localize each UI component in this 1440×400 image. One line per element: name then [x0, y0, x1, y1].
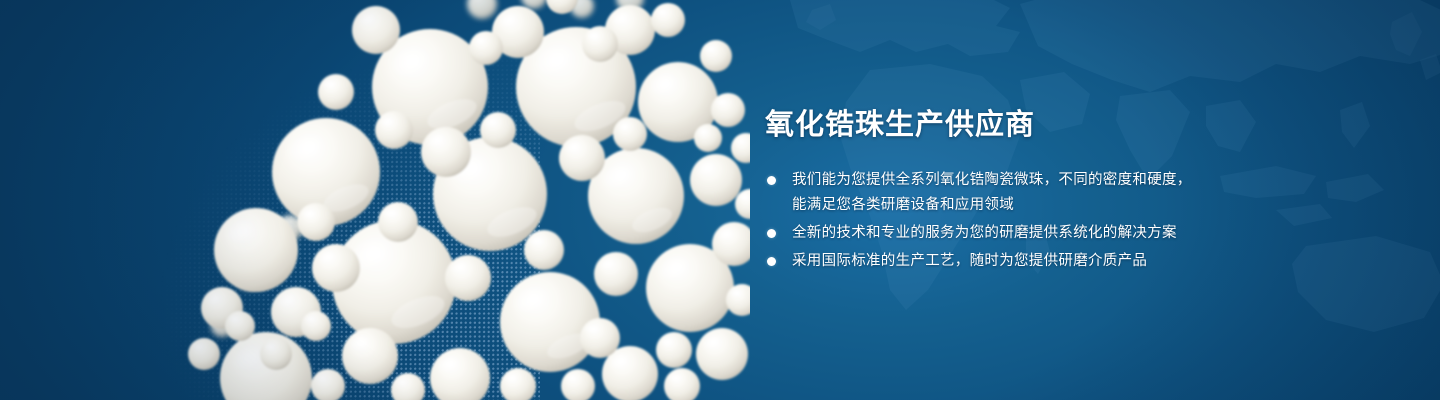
- banner-bullet-list: 我们能为您提供全系列氧化锆陶瓷微珠，不同的密度和硬度， 能满足您各类研磨设备和应…: [765, 168, 1285, 274]
- bullet-3-line-1: 采用国际标准的生产工艺，随时为您提供研磨介质产品: [792, 249, 1285, 274]
- dot-bullet-icon: [767, 257, 776, 266]
- banner-text-block: 氧化锆珠生产供应商 我们能为您提供全系列氧化锆陶瓷微珠，不同的密度和硬度， 能满…: [765, 106, 1285, 277]
- bullet-1-line-1: 我们能为您提供全系列氧化锆陶瓷微珠，不同的密度和硬度，: [792, 168, 1285, 193]
- bullet-item-2: 全新的技术和专业的服务为您的研磨提供系统化的解决方案: [765, 221, 1285, 246]
- bullet-item-3: 采用国际标准的生产工艺，随时为您提供研磨介质产品: [765, 249, 1285, 274]
- banner-headline: 氧化锆珠生产供应商: [765, 106, 1285, 144]
- dot-bullet-icon: [767, 229, 776, 238]
- bullet-2-line-1: 全新的技术和专业的服务为您的研磨提供系统化的解决方案: [792, 221, 1285, 246]
- bullet-item-1: 我们能为您提供全系列氧化锆陶瓷微珠，不同的密度和硬度， 能满足您各类研磨设备和应…: [765, 168, 1285, 218]
- dot-bullet-icon: [767, 176, 776, 185]
- hero-banner: 氧化锆珠生产供应商 我们能为您提供全系列氧化锆陶瓷微珠，不同的密度和硬度， 能满…: [0, 0, 1440, 400]
- bullet-1-line-2: 能满足您各类研磨设备和应用领域: [792, 193, 1285, 218]
